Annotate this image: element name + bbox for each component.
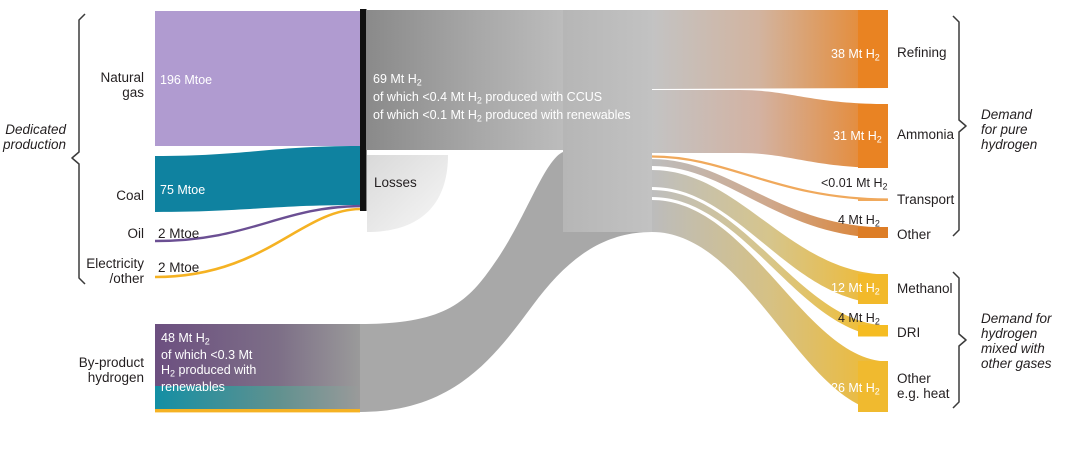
value-methanol: 12 Mt H2 — [831, 281, 880, 297]
value-coal: 75 Mtoe — [160, 183, 205, 198]
losses-label: Losses — [374, 175, 417, 190]
value-electricity: 2 Mtoe — [158, 260, 199, 275]
value-oil: 2 Mtoe — [158, 226, 199, 241]
demand-label-methanol: Methanol — [897, 281, 953, 296]
sankey-diagram: Dedicated production Natural gas Coal Oi… — [0, 0, 1075, 457]
byproduct-note-line1: of which <0.3 Mt — [161, 348, 256, 364]
byproduct-note-line2: H2 produced with — [161, 363, 256, 380]
node-transport — [858, 199, 888, 201]
source-label-oil: Oil — [40, 226, 144, 241]
value-other-pure: 4 Mt H2 — [838, 213, 880, 229]
byproduct-value: 48 Mt H2 — [161, 331, 256, 348]
center-ccus-note: of which <0.4 Mt H2 produced with CCUS — [373, 89, 631, 107]
source-label-natural-gas: Natural gas — [40, 70, 144, 100]
source-label-byproduct: By-product hydrogen — [10, 355, 144, 385]
source-label-electricity: Electricity /other — [30, 256, 144, 286]
group-label-demand-pure: Demand for pure hydrogen — [981, 107, 1037, 152]
value-transport: <0.01 Mt H2 — [821, 176, 888, 192]
center-annotation: 69 Mt H2 of which <0.4 Mt H2 produced wi… — [373, 71, 631, 125]
node-byproduct-yellow-strip — [155, 409, 360, 412]
flow-losses — [367, 155, 448, 232]
demand-label-transport: Transport — [897, 192, 954, 207]
bracket-dedicated-production — [72, 14, 85, 284]
flow-coal — [155, 146, 360, 212]
demand-label-other-heat: Other e.g. heat — [897, 371, 950, 401]
byproduct-note-line3: renewables — [161, 380, 256, 396]
demand-label-dri: DRI — [897, 325, 920, 340]
demand-label-other-pure: Other — [897, 227, 931, 242]
value-dri: 4 Mt H2 — [838, 311, 880, 327]
center-h2-value: 69 Mt H2 — [373, 71, 631, 89]
group-label-demand-mixed: Demand for hydrogen mixed with other gas… — [981, 311, 1052, 371]
value-refining: 38 Mt H2 — [831, 47, 880, 63]
bracket-demand-mixed — [953, 272, 966, 408]
demand-label-ammonia: Ammonia — [897, 127, 954, 142]
center-renewables-note: of which <0.1 Mt H2 produced with renewa… — [373, 107, 631, 125]
value-other-heat: 26 Mt H2 — [831, 381, 880, 397]
value-ammonia: 31 Mt H2 — [833, 129, 882, 145]
demand-label-refining: Refining — [897, 45, 947, 60]
bracket-demand-pure — [953, 16, 966, 236]
byproduct-annotation: 48 Mt H2 of which <0.3 Mt H2 produced wi… — [161, 331, 256, 395]
conversion-bar — [360, 9, 367, 211]
source-label-coal: Coal — [40, 188, 144, 203]
value-natural-gas: 196 Mtoe — [160, 73, 212, 88]
group-label-dedicated-production: Dedicated production — [0, 122, 66, 152]
